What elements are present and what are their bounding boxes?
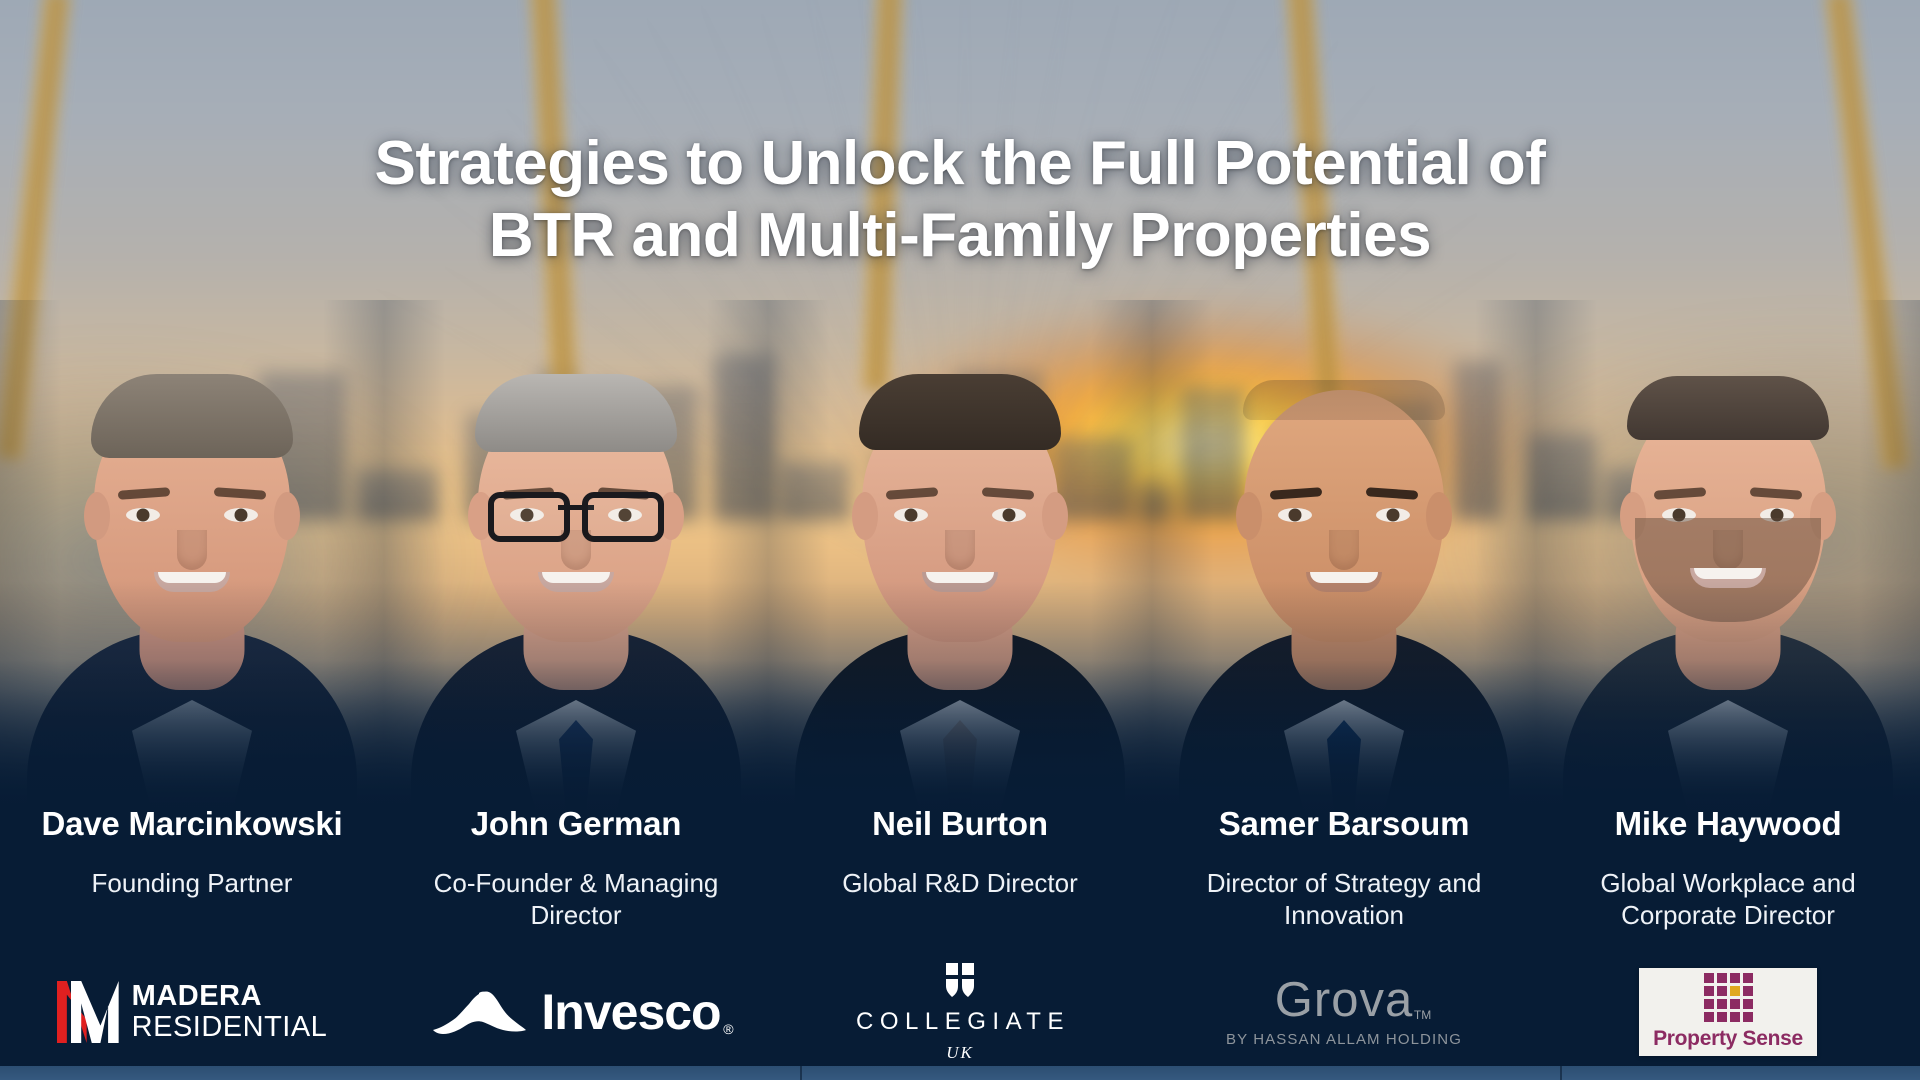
logo-madera-residential: MADERA RESIDENTIAL xyxy=(0,960,384,1064)
speaker-photo-strip xyxy=(0,300,1920,840)
speaker-role: Global R&D Director xyxy=(776,868,1144,900)
logo-grova: GrovaTM BY HASSAN ALLAM HOLDING xyxy=(1152,960,1536,1064)
eyeglasses-icon xyxy=(488,492,664,534)
logo-property-sense: Property Sense xyxy=(1536,960,1920,1064)
madera-m-monogram-icon xyxy=(57,981,123,1043)
collegiate-subword: UK xyxy=(850,1043,1070,1063)
speaker-entry-dave-marcinkowski: Dave Marcinkowski Founding Partner xyxy=(0,806,384,932)
speaker-photo-mike-haywood xyxy=(1536,300,1920,840)
trademark-icon: TM xyxy=(1414,1009,1431,1021)
madera-wordmark-top: MADERA xyxy=(132,982,328,1011)
grova-subword: BY HASSAN ALLAM HOLDING xyxy=(1226,1031,1462,1048)
speaker-entry-mike-haywood: Mike Haywood Global Workplace and Corpor… xyxy=(1536,806,1920,932)
registered-trademark-icon: ® xyxy=(723,1021,732,1037)
speaker-name: John German xyxy=(392,806,760,842)
logo-invesco: Invesco® xyxy=(384,960,768,1064)
speaker-role: Founding Partner xyxy=(8,868,376,900)
grid-with-house-icon xyxy=(1704,973,1753,1022)
speaker-name: Dave Marcinkowski xyxy=(8,806,376,842)
grova-wordmark: GrovaTM xyxy=(1275,976,1413,1025)
invesco-wordmark: Invesco® xyxy=(541,983,720,1041)
speaker-role: Global Workplace and Corporate Director xyxy=(1544,868,1912,931)
property-sense-wordmark: Property Sense xyxy=(1653,1027,1803,1051)
speaker-photo-samer-barsoum xyxy=(1152,300,1536,840)
speaker-entry-john-german: John German Co-Founder & Managing Direct… xyxy=(384,806,768,932)
speaker-name: Samer Barsoum xyxy=(1160,806,1528,842)
speaker-name: Neil Burton xyxy=(776,806,1144,842)
page-title: Strategies to Unlock the Full Potential … xyxy=(0,128,1920,273)
title-line-1: Strategies to Unlock the Full Potential … xyxy=(120,128,1800,201)
speaker-entry-neil-burton: Neil Burton Global R&D Director xyxy=(768,806,1152,932)
speaker-photo-john-german xyxy=(384,300,768,840)
speaker-role: Director of Strategy and Innovation xyxy=(1160,868,1528,931)
speaker-photo-dave-marcinkowski xyxy=(0,300,384,840)
title-line-2: BTR and Multi-Family Properties xyxy=(120,200,1800,273)
company-logo-row: MADERA RESIDENTIAL Invesco® xyxy=(0,960,1920,1064)
madera-wordmark-bottom: RESIDENTIAL xyxy=(132,1013,328,1042)
shield-icon xyxy=(945,962,975,998)
mountain-peak-icon xyxy=(431,984,527,1041)
collegiate-wordmark: COLLEGIATE xyxy=(850,1008,1070,1036)
speaker-list: Dave Marcinkowski Founding Partner John … xyxy=(0,806,1920,932)
presentation-slide: Strategies to Unlock the Full Potential … xyxy=(0,0,1920,1080)
speaker-entry-samer-barsoum: Samer Barsoum Director of Strategy and I… xyxy=(1152,806,1536,932)
speaker-name: Mike Haywood xyxy=(1544,806,1912,842)
speaker-photo-neil-burton xyxy=(768,300,1152,840)
logo-collegiate-uk: COLLEGIATE UK xyxy=(768,960,1152,1064)
speaker-role: Co-Founder & Managing Director xyxy=(392,868,760,931)
bottom-accent-strip xyxy=(0,1066,1920,1080)
